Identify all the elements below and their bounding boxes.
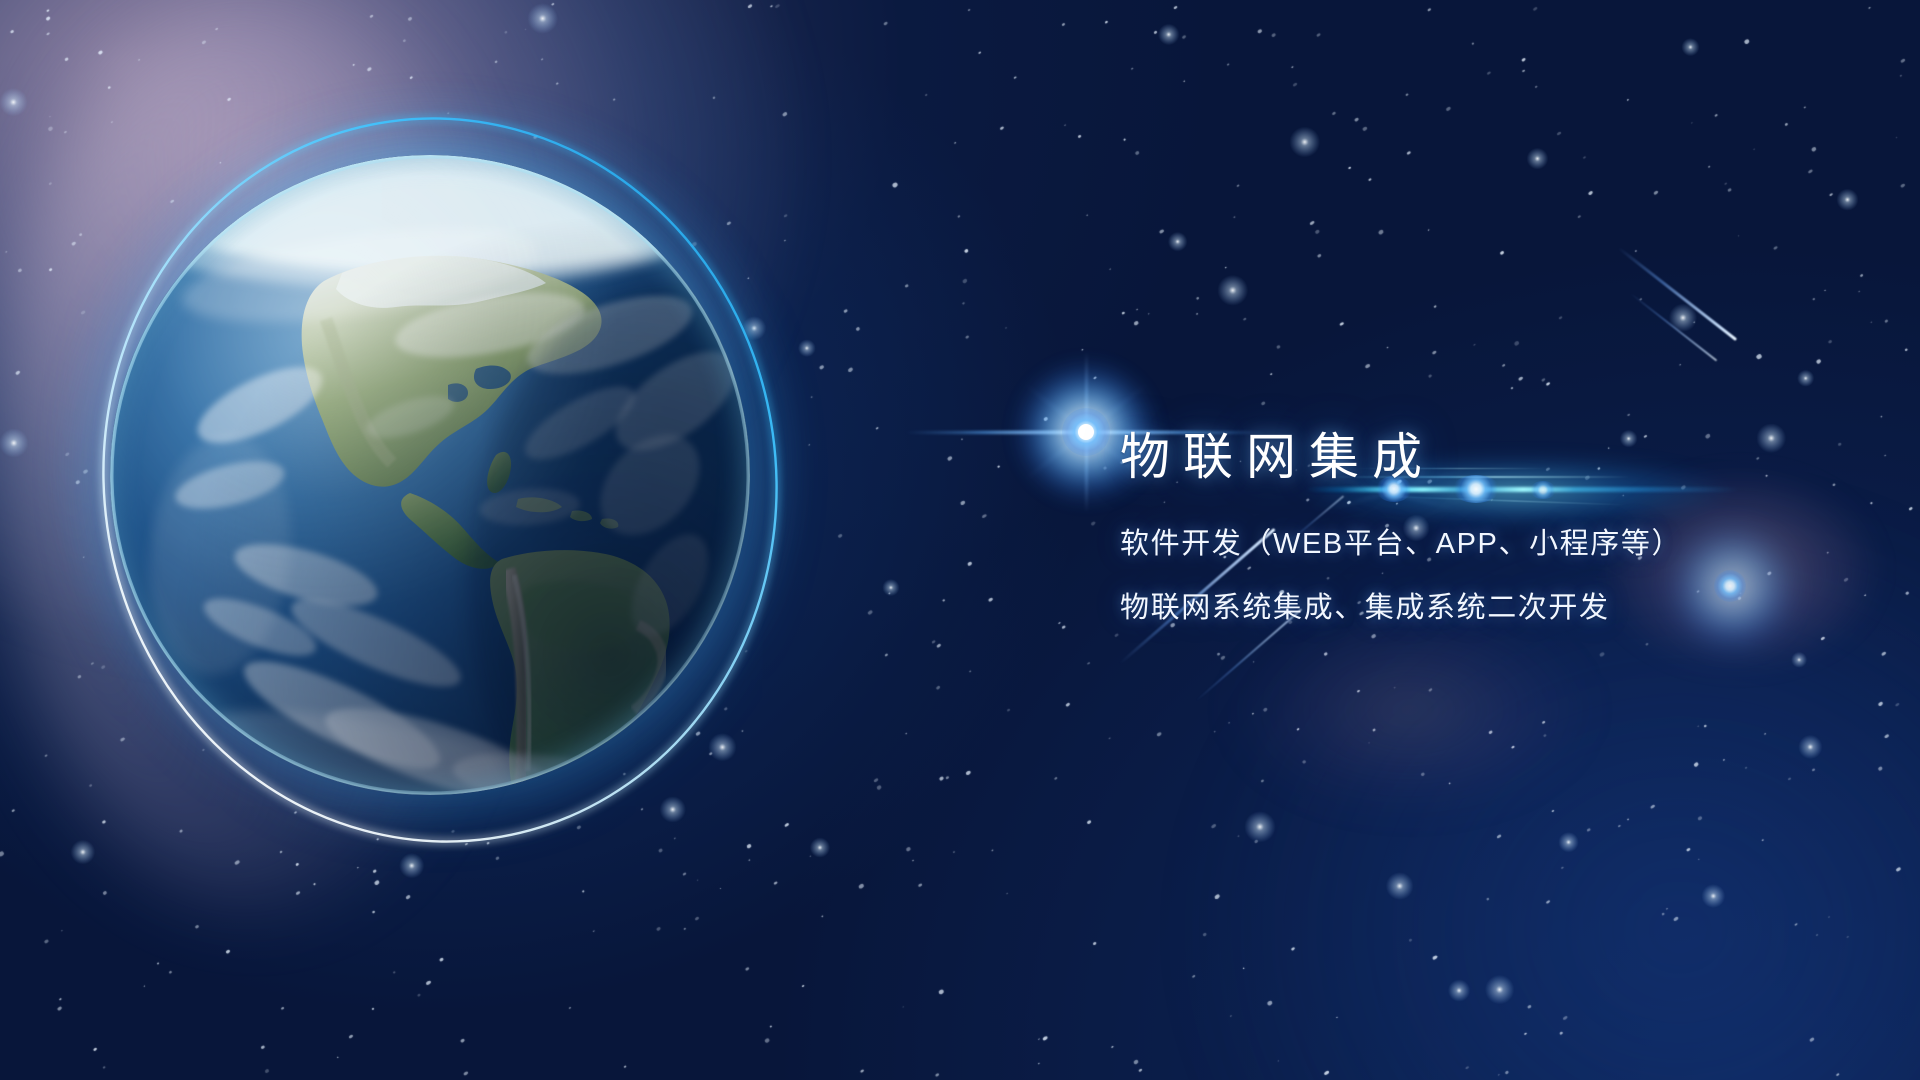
hero-banner: 物联网集成 软件开发（WEB平台、APP、小程序等） 物联网系统集成、集成系统二…	[0, 0, 1920, 1080]
banner-copy: 物联网集成 软件开发（WEB平台、APP、小程序等） 物联网系统集成、集成系统二…	[1120, 428, 1880, 627]
meteor-streak-upper-right	[1617, 246, 1737, 341]
meteor-streak-upper-right-2	[1629, 292, 1717, 361]
earth-globe	[110, 155, 750, 795]
banner-title: 物联网集成	[1120, 428, 1880, 487]
banner-subtitle-1: 软件开发（WEB平台、APP、小程序等）	[1120, 527, 1880, 562]
globe-sphere	[110, 155, 750, 795]
warm-lens-glow-center	[1230, 610, 1590, 810]
banner-subtitle-2: 物联网系统集成、集成系统二次开发	[1120, 591, 1880, 626]
